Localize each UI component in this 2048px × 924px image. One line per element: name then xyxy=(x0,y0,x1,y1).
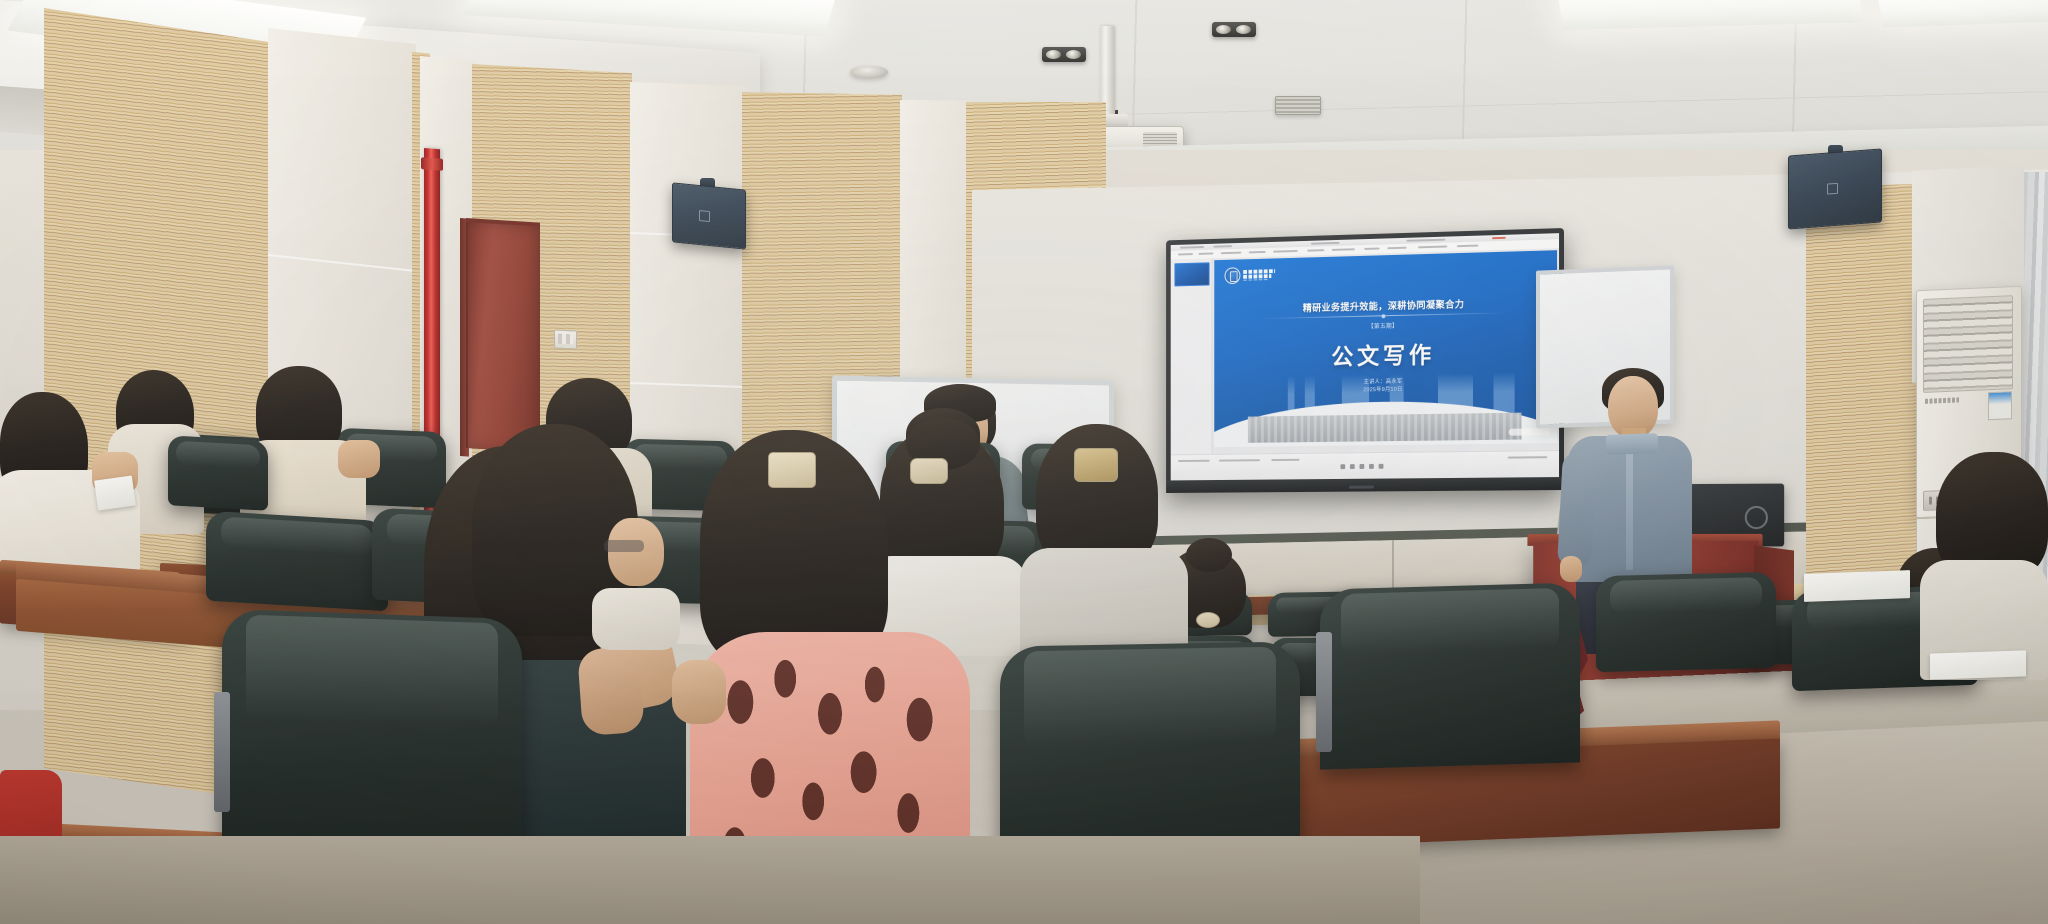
ceiling-air-vent xyxy=(1275,96,1321,115)
floor-foreground xyxy=(0,836,1420,924)
panel-seam xyxy=(268,254,416,272)
ac-vent-louvers xyxy=(1923,295,2013,393)
slide-campus-photo xyxy=(1248,413,1522,443)
panel-seam xyxy=(630,382,750,388)
slide-issue-label: 【第五期】 xyxy=(1214,317,1557,334)
speaker-logo-icon xyxy=(699,210,710,222)
audience-chair[interactable] xyxy=(1596,572,1776,672)
person-top xyxy=(592,588,680,650)
hair-bun xyxy=(1186,538,1232,572)
audience-chair[interactable] xyxy=(1320,582,1580,769)
hair-clip xyxy=(1074,448,1118,482)
slide-title: 公文写作 xyxy=(1214,333,1557,373)
person-face xyxy=(608,518,664,586)
ceiling-spotlight xyxy=(1042,47,1086,62)
toolbar-icon[interactable] xyxy=(1349,464,1354,469)
ac-energy-label xyxy=(1988,391,2012,420)
ceiling-spotlight xyxy=(1212,22,1256,37)
room-door[interactable] xyxy=(466,222,540,453)
person-hand xyxy=(1560,556,1582,582)
slide-stage: 精研业务提升效能，深耕协同凝聚合力 【第五期】 公文写作 主讲人：高永军 202… xyxy=(1212,248,1559,455)
smoke-detector-icon xyxy=(850,66,888,78)
eyeglasses xyxy=(604,540,644,552)
ac-brand-label xyxy=(1925,397,1959,403)
hair-clip xyxy=(910,458,948,484)
lecture-room-photograph: 精研业务提升效能，深耕协同凝聚合力 【第五期】 公文写作 主讲人：高永军 202… xyxy=(0,0,2048,924)
person-hand xyxy=(672,660,726,724)
person-hand xyxy=(338,440,380,478)
toolbar-icon[interactable] xyxy=(1369,463,1374,468)
person-top xyxy=(1020,548,1188,658)
toolbar-icon[interactable] xyxy=(1359,464,1364,469)
handout-paper xyxy=(94,476,136,511)
handout-paper xyxy=(1930,650,2026,679)
slide-thumbnail[interactable] xyxy=(1174,262,1209,286)
hair-clip xyxy=(1196,612,1220,628)
speaker-logo-icon xyxy=(1827,183,1838,195)
display-screen: 精研业务提升效能，深耕协同凝聚合力 【第五期】 公文写作 主讲人：高永军 202… xyxy=(1171,233,1559,480)
hair-clip xyxy=(768,452,816,488)
handout-paper xyxy=(1804,570,1910,602)
wall-speaker xyxy=(672,182,746,249)
presentation-slide: 精研业务提升效能，深耕协同凝聚合力 【第五期】 公文写作 主讲人：高永军 202… xyxy=(1214,250,1557,447)
shirt-placket xyxy=(1626,442,1633,570)
interactive-display[interactable]: 精研业务提升效能，深耕协同凝聚合力 【第五期】 公文写作 主讲人：高永军 202… xyxy=(1166,228,1564,493)
person-hand-clapping xyxy=(577,646,645,736)
chair-arm xyxy=(1316,632,1332,752)
ac-button[interactable] xyxy=(1929,497,1932,505)
logo-wordmark xyxy=(1243,269,1275,281)
audience-chair[interactable] xyxy=(206,511,388,612)
person-arm xyxy=(1557,451,1597,569)
chair-arm xyxy=(214,692,230,812)
toolbar-icon[interactable] xyxy=(1378,463,1383,468)
toolbar-icon[interactable] xyxy=(1340,464,1345,469)
shirt-collar xyxy=(1606,433,1659,455)
university-emblem-icon xyxy=(1225,267,1241,284)
audience-chair[interactable] xyxy=(168,435,268,511)
light-switch-panel[interactable] xyxy=(554,329,577,349)
wall-speaker xyxy=(1788,148,1882,229)
monitor-brand-icon xyxy=(1745,506,1768,529)
slide-thumbnail-pane[interactable] xyxy=(1171,258,1213,455)
slide-footer-badge xyxy=(1509,428,1550,436)
fire-pipe-joint xyxy=(421,157,443,171)
institution-logo xyxy=(1225,266,1276,284)
